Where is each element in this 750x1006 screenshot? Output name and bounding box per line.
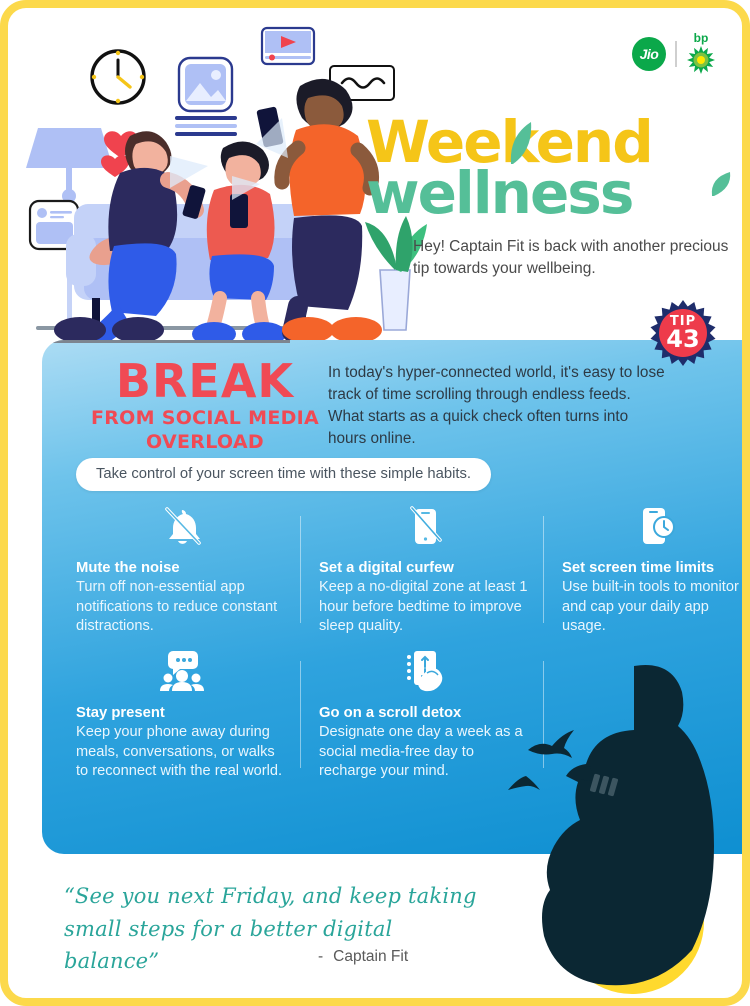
tip-card-2: Set a digital curfew Keep a no-digital z… — [319, 502, 544, 637]
clock-icon — [92, 51, 144, 103]
people-chat-icon — [76, 647, 287, 693]
tip-title: Stay present — [76, 705, 287, 721]
panel-heading: BREAK FROM SOCIAL MEDIA OVERLOAD — [80, 360, 330, 453]
tip-badge-number: 43 — [650, 325, 716, 353]
panel-heading-main: BREAK — [80, 360, 330, 404]
panel-top-rule — [42, 340, 290, 343]
tip-title: Set a digital curfew — [319, 560, 530, 576]
page-title: Weekend wellness — [366, 116, 736, 221]
tip-body: Turn off non-essential app notifications… — [76, 578, 287, 637]
title-line-2: wellness — [366, 167, 736, 220]
tip-title: Mute the noise — [76, 560, 287, 576]
bp-label: bp — [694, 32, 709, 44]
tip-card-3: Set screen time limits Use built-in tool… — [562, 502, 750, 637]
tip-body: Use built-in tools to monitor and cap yo… — [562, 578, 748, 637]
tip-card-5: Go on a scroll detox Designate one day a… — [319, 647, 544, 782]
footer-attribution: -Captain Fit — [318, 948, 408, 966]
page-subtitle: Hey! Captain Fit is back with another pr… — [413, 236, 733, 280]
tip-title: Go on a scroll detox — [319, 705, 530, 721]
video-player-icon — [262, 28, 314, 64]
callout-pill: Take control of your screen time with th… — [76, 458, 491, 491]
tip-body: Keep a no-digital zone at least 1 hour b… — [319, 578, 530, 637]
content-panel: BREAK FROM SOCIAL MEDIA OVERLOAD In toda… — [42, 340, 750, 854]
panel-heading-sub-2: OVERLOAD — [80, 432, 330, 453]
status-badge: TIP 43 — [650, 300, 716, 366]
tip-card-empty — [562, 647, 750, 782]
jio-logo-icon: Jio — [632, 37, 666, 71]
tip-body: Keep your phone away during meals, conve… — [76, 723, 287, 782]
footer-quote: “See you next Friday, and keep taking sm… — [64, 880, 494, 978]
bp-helios-icon — [686, 45, 716, 75]
attribution-dash: - — [318, 948, 323, 965]
tips-grid: Mute the noise Turn off non-essential ap… — [76, 502, 736, 782]
leaf-icon-2 — [708, 170, 734, 198]
scroll-hand-icon — [319, 647, 530, 693]
tip-card-1: Mute the noise Turn off non-essential ap… — [76, 502, 301, 637]
logo-divider — [675, 41, 677, 67]
leaf-icon-1 — [507, 120, 535, 166]
panel-heading-sub-1: FROM SOCIAL MEDIA — [80, 408, 330, 429]
attribution-author: Captain Fit — [333, 948, 408, 965]
poster-root: Jio bp — [0, 0, 750, 1006]
brand-logo: Jio bp — [632, 32, 716, 75]
panel-intro-text: In today's hyper-connected world, it's e… — [328, 362, 668, 450]
bell-slash-icon — [76, 502, 287, 548]
image-card-icon — [175, 58, 237, 136]
phone-slash-icon — [319, 502, 530, 548]
phone-clock-icon — [562, 502, 748, 548]
tip-title: Set screen time limits — [562, 560, 748, 576]
tip-body: Designate one day a week as a social med… — [319, 723, 530, 782]
bp-logo: bp — [686, 32, 716, 75]
tip-card-4: Stay present Keep your phone away during… — [76, 647, 301, 782]
